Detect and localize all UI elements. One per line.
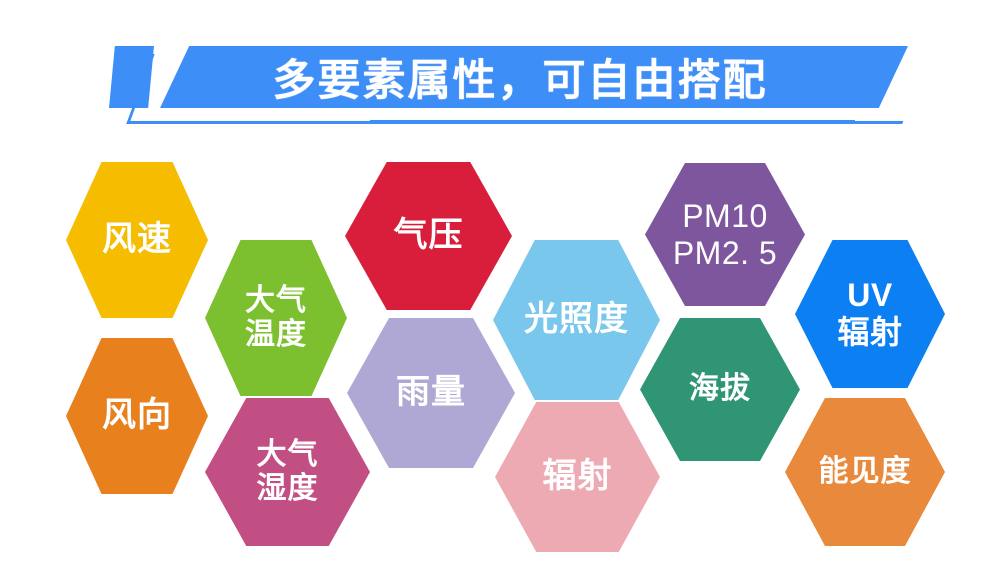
hex-radiation[interactable]: 辐射 — [495, 402, 660, 552]
page-title: 多要素属性，可自由搭配 — [160, 46, 880, 108]
hex-label-rainfall: 雨量 — [347, 373, 515, 412]
hex-wind-direction[interactable]: 风向 — [66, 338, 208, 494]
hex-altitude[interactable]: 海拔 — [640, 318, 800, 461]
hex-label-altitude: 海拔 — [640, 372, 800, 407]
hex-visibility[interactable]: 能见度 — [785, 398, 945, 546]
hex-pm10-pm25[interactable]: PM10 PM2. 5 — [645, 163, 805, 306]
hex-label-wind-speed: 风速 — [66, 220, 208, 259]
banner: 多要素属性，可自由搭配 — [0, 0, 1000, 140]
hex-air-humidity[interactable]: 大气 湿度 — [205, 398, 370, 546]
hex-rainfall[interactable]: 雨量 — [347, 318, 515, 468]
hex-label-air-humidity: 大气 湿度 — [205, 438, 370, 507]
hex-label-radiation: 辐射 — [495, 457, 660, 496]
hex-label-air-temperature: 大气 温度 — [205, 284, 347, 353]
hex-label-visibility: 能见度 — [785, 455, 945, 490]
hex-label-wind-direction: 风向 — [66, 396, 208, 435]
hex-label-pm10-pm25: PM10 PM2. 5 — [645, 198, 805, 272]
banner-underline — [370, 120, 855, 123]
hex-label-air-pressure: 气压 — [345, 216, 512, 255]
hexagon-grid: 风速风向大气 温度大气 湿度气压雨量光照度辐射PM10 PM2. 5海拔UV 辐… — [0, 140, 1000, 578]
hex-label-uv-radiation: UV 辐射 — [795, 277, 945, 351]
hex-illuminance[interactable]: 光照度 — [493, 240, 660, 400]
hex-wind-speed[interactable]: 风速 — [66, 162, 208, 318]
hex-uv-radiation[interactable]: UV 辐射 — [795, 240, 945, 388]
hex-air-pressure[interactable]: 气压 — [345, 162, 512, 310]
hex-label-illuminance: 光照度 — [493, 300, 660, 339]
hex-air-temperature[interactable]: 大气 温度 — [205, 240, 347, 396]
